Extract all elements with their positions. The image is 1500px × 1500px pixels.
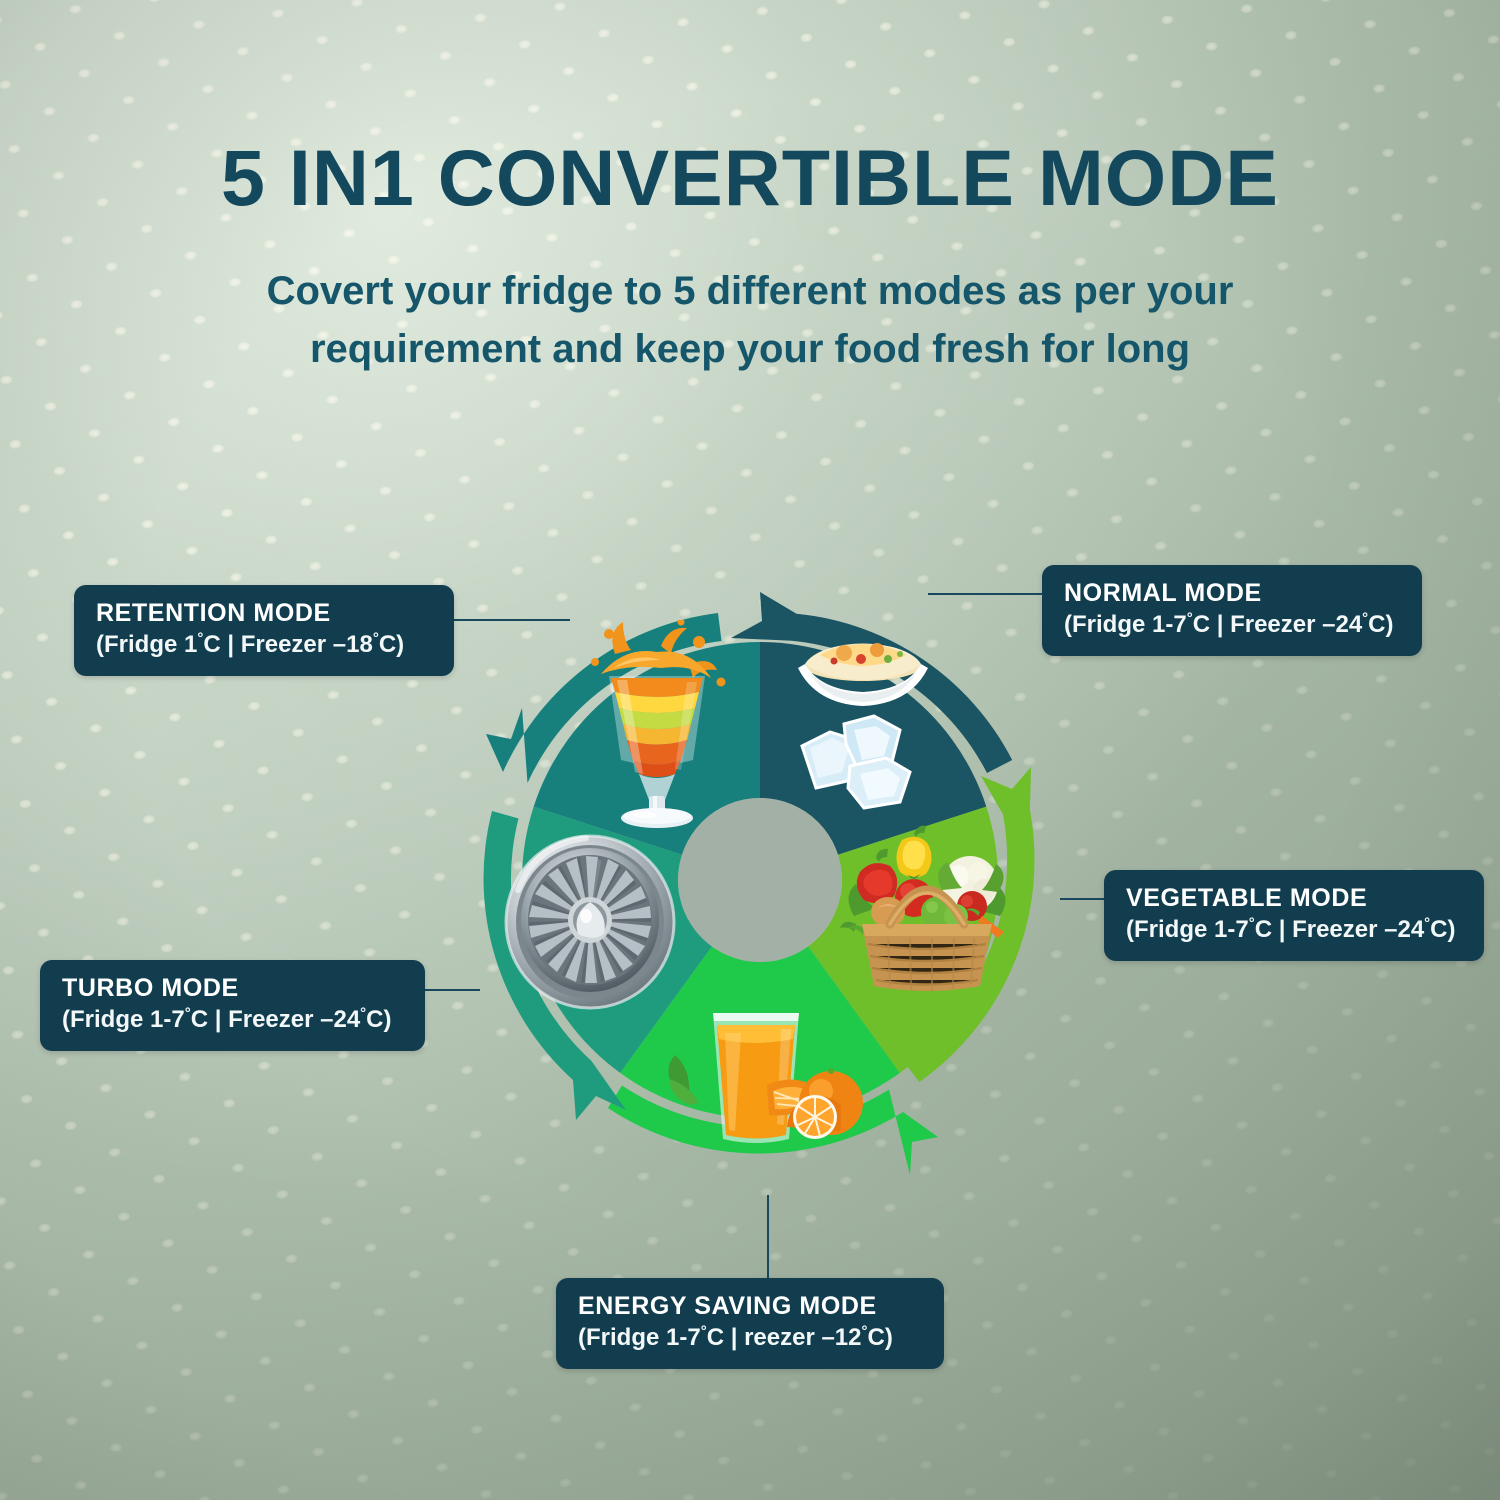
turbo-spec-prefix: (Fridge 1-7 [62,1006,185,1033]
energy-spec-prefix: (Fridge 1-7 [578,1324,701,1351]
label-normal-spec: (Fridge 1-7°C | Freezer –24°C) [1064,610,1402,640]
connector-turbo [420,989,480,991]
normal-spec-prefix: (Fridge 1-7 [1064,611,1187,638]
normal-spec-suffix: C) [1368,611,1393,638]
label-energy-saving-mode[interactable]: ENERGY SAVING MODE (Fridge 1-7°C | reeze… [556,1278,944,1369]
vegetable-spec-prefix: (Fridge 1-7 [1126,916,1249,943]
connector-retention [450,619,570,621]
page-title: 5 IN1 CONVERTIBLE MODE [0,138,1500,217]
label-turbo-title: TURBO MODE [62,974,405,1002]
energy-spec-suffix: C) [868,1324,893,1351]
connector-normal [928,593,1043,595]
label-vegetable-title: VEGETABLE MODE [1126,884,1464,912]
label-vegetable-spec: (Fridge 1-7°C | Freezer –24°C) [1126,915,1464,945]
retention-spec-mid: C | Freezer –18 [203,631,372,658]
label-retention-mode[interactable]: RETENTION MODE (Fridge 1°C | Freezer –18… [74,585,454,676]
turbo-spec-suffix: C) [366,1006,391,1033]
turbo-spec-mid: C | Freezer –24 [191,1006,360,1033]
vegetable-spec-mid: C | Freezer –24 [1255,916,1424,943]
energy-spec-mid: C | reezer –12 [707,1324,862,1351]
label-retention-spec: (Fridge 1°C | Freezer –18°C) [96,630,434,660]
infographic-canvas: 5 IN1 CONVERTIBLE MODE Covert your fridg… [0,0,1500,1500]
label-energy-spec: (Fridge 1-7°C | reezer –12°C) [578,1323,924,1353]
retention-spec-prefix: (Fridge 1 [96,631,197,658]
label-turbo-mode[interactable]: TURBO MODE (Fridge 1-7°C | Freezer –24°C… [40,960,425,1051]
convertible-mode-wheel [400,520,1120,1240]
label-retention-title: RETENTION MODE [96,599,434,627]
label-energy-title: ENERGY SAVING MODE [578,1292,924,1320]
connector-energy [767,1195,769,1280]
label-turbo-spec: (Fridge 1-7°C | Freezer –24°C) [62,1005,405,1035]
label-normal-mode[interactable]: NORMAL MODE (Fridge 1-7°C | Freezer –24°… [1042,565,1422,656]
vegetable-spec-suffix: C) [1430,916,1455,943]
page-subtitle: Covert your fridge to 5 different modes … [190,262,1310,378]
retention-spec-suffix: C) [379,631,404,658]
label-vegetable-mode[interactable]: VEGETABLE MODE (Fridge 1-7°C | Freezer –… [1104,870,1484,961]
normal-spec-mid: C | Freezer –24 [1193,611,1362,638]
label-normal-title: NORMAL MODE [1064,579,1402,607]
center-hub [678,798,842,962]
